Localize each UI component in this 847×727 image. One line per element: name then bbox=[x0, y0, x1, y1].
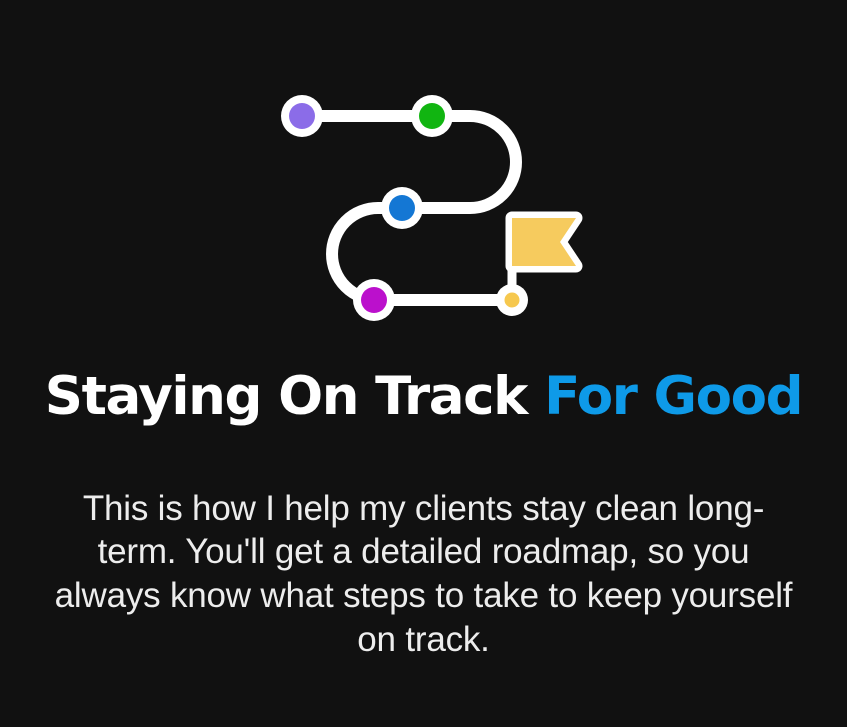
page-title-primary: Staying On Track bbox=[45, 366, 527, 427]
milestone-goal-dot bbox=[504, 293, 519, 308]
body-paragraph: This is how I help my clients stay clean… bbox=[44, 487, 804, 662]
milestone-2-dot bbox=[419, 103, 445, 129]
milestone-1-dot bbox=[289, 103, 315, 129]
slide-root: Staying On Track For Good This is how I … bbox=[0, 0, 847, 727]
page-title: Staying On Track For Good bbox=[0, 370, 847, 423]
roadmap-journey-illustration bbox=[274, 88, 574, 308]
page-title-accent: For Good bbox=[527, 366, 802, 427]
milestone-4-dot bbox=[361, 287, 387, 313]
milestone-3-dot bbox=[389, 195, 415, 221]
